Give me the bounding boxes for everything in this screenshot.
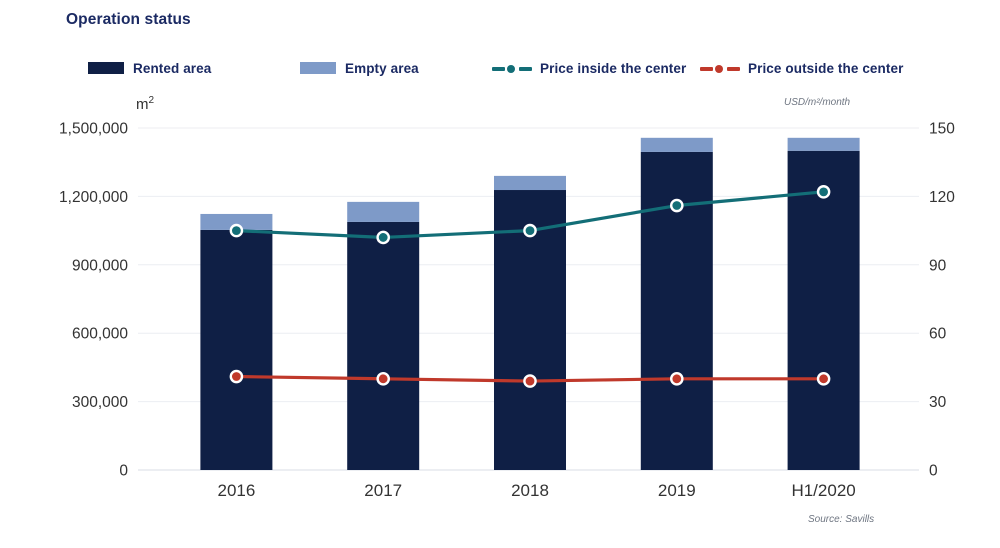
y-axis-tick-label: 900,000 (72, 257, 128, 274)
x-axis-tick-label: 2018 (511, 481, 549, 500)
y-axis-tick-label: 1,500,000 (59, 121, 128, 138)
line-point-price-outside-center[interactable] (378, 373, 389, 384)
chart-svg: 00300,00030600,00060900,000901,200,00012… (0, 0, 1000, 548)
y2-axis-tick-label: 150 (929, 121, 955, 138)
bar-empty-area[interactable] (347, 202, 419, 222)
y2-axis-tick-label: 120 (929, 189, 955, 206)
x-axis-tick-label: 2016 (217, 481, 255, 500)
y-axis-tick-label: 300,000 (72, 394, 128, 411)
y2-axis-tick-label: 90 (929, 257, 947, 274)
y-axis-tick-label: 0 (119, 463, 128, 480)
bar-empty-area[interactable] (494, 176, 566, 190)
y2-axis-tick-label: 60 (929, 326, 947, 343)
bar-rented-area[interactable] (200, 230, 272, 470)
line-point-price-inside-center[interactable] (671, 200, 682, 211)
line-point-price-outside-center[interactable] (671, 373, 682, 384)
bar-empty-area[interactable] (641, 138, 713, 152)
chart-plot-area: 00300,00030600,00060900,000901,200,00012… (0, 0, 1000, 548)
y2-axis-tick-label: 0 (929, 463, 938, 480)
y-axis-tick-label: 1,200,000 (59, 189, 128, 206)
bar-empty-area[interactable] (788, 138, 860, 151)
line-point-price-outside-center[interactable] (818, 373, 829, 384)
y2-axis-tick-label: 30 (929, 394, 947, 411)
x-axis-tick-label: 2019 (658, 481, 696, 500)
x-axis-tick-label: 2017 (364, 481, 402, 500)
y-axis-tick-label: 600,000 (72, 326, 128, 343)
x-axis-tick-label: H1/2020 (791, 481, 855, 500)
line-point-price-inside-center[interactable] (378, 232, 389, 243)
bar-rented-area[interactable] (347, 222, 419, 470)
line-point-price-outside-center[interactable] (524, 375, 535, 386)
line-point-price-inside-center[interactable] (818, 186, 829, 197)
line-point-price-inside-center[interactable] (524, 225, 535, 236)
line-point-price-outside-center[interactable] (231, 371, 242, 382)
line-point-price-inside-center[interactable] (231, 225, 242, 236)
bar-rented-area[interactable] (788, 151, 860, 470)
